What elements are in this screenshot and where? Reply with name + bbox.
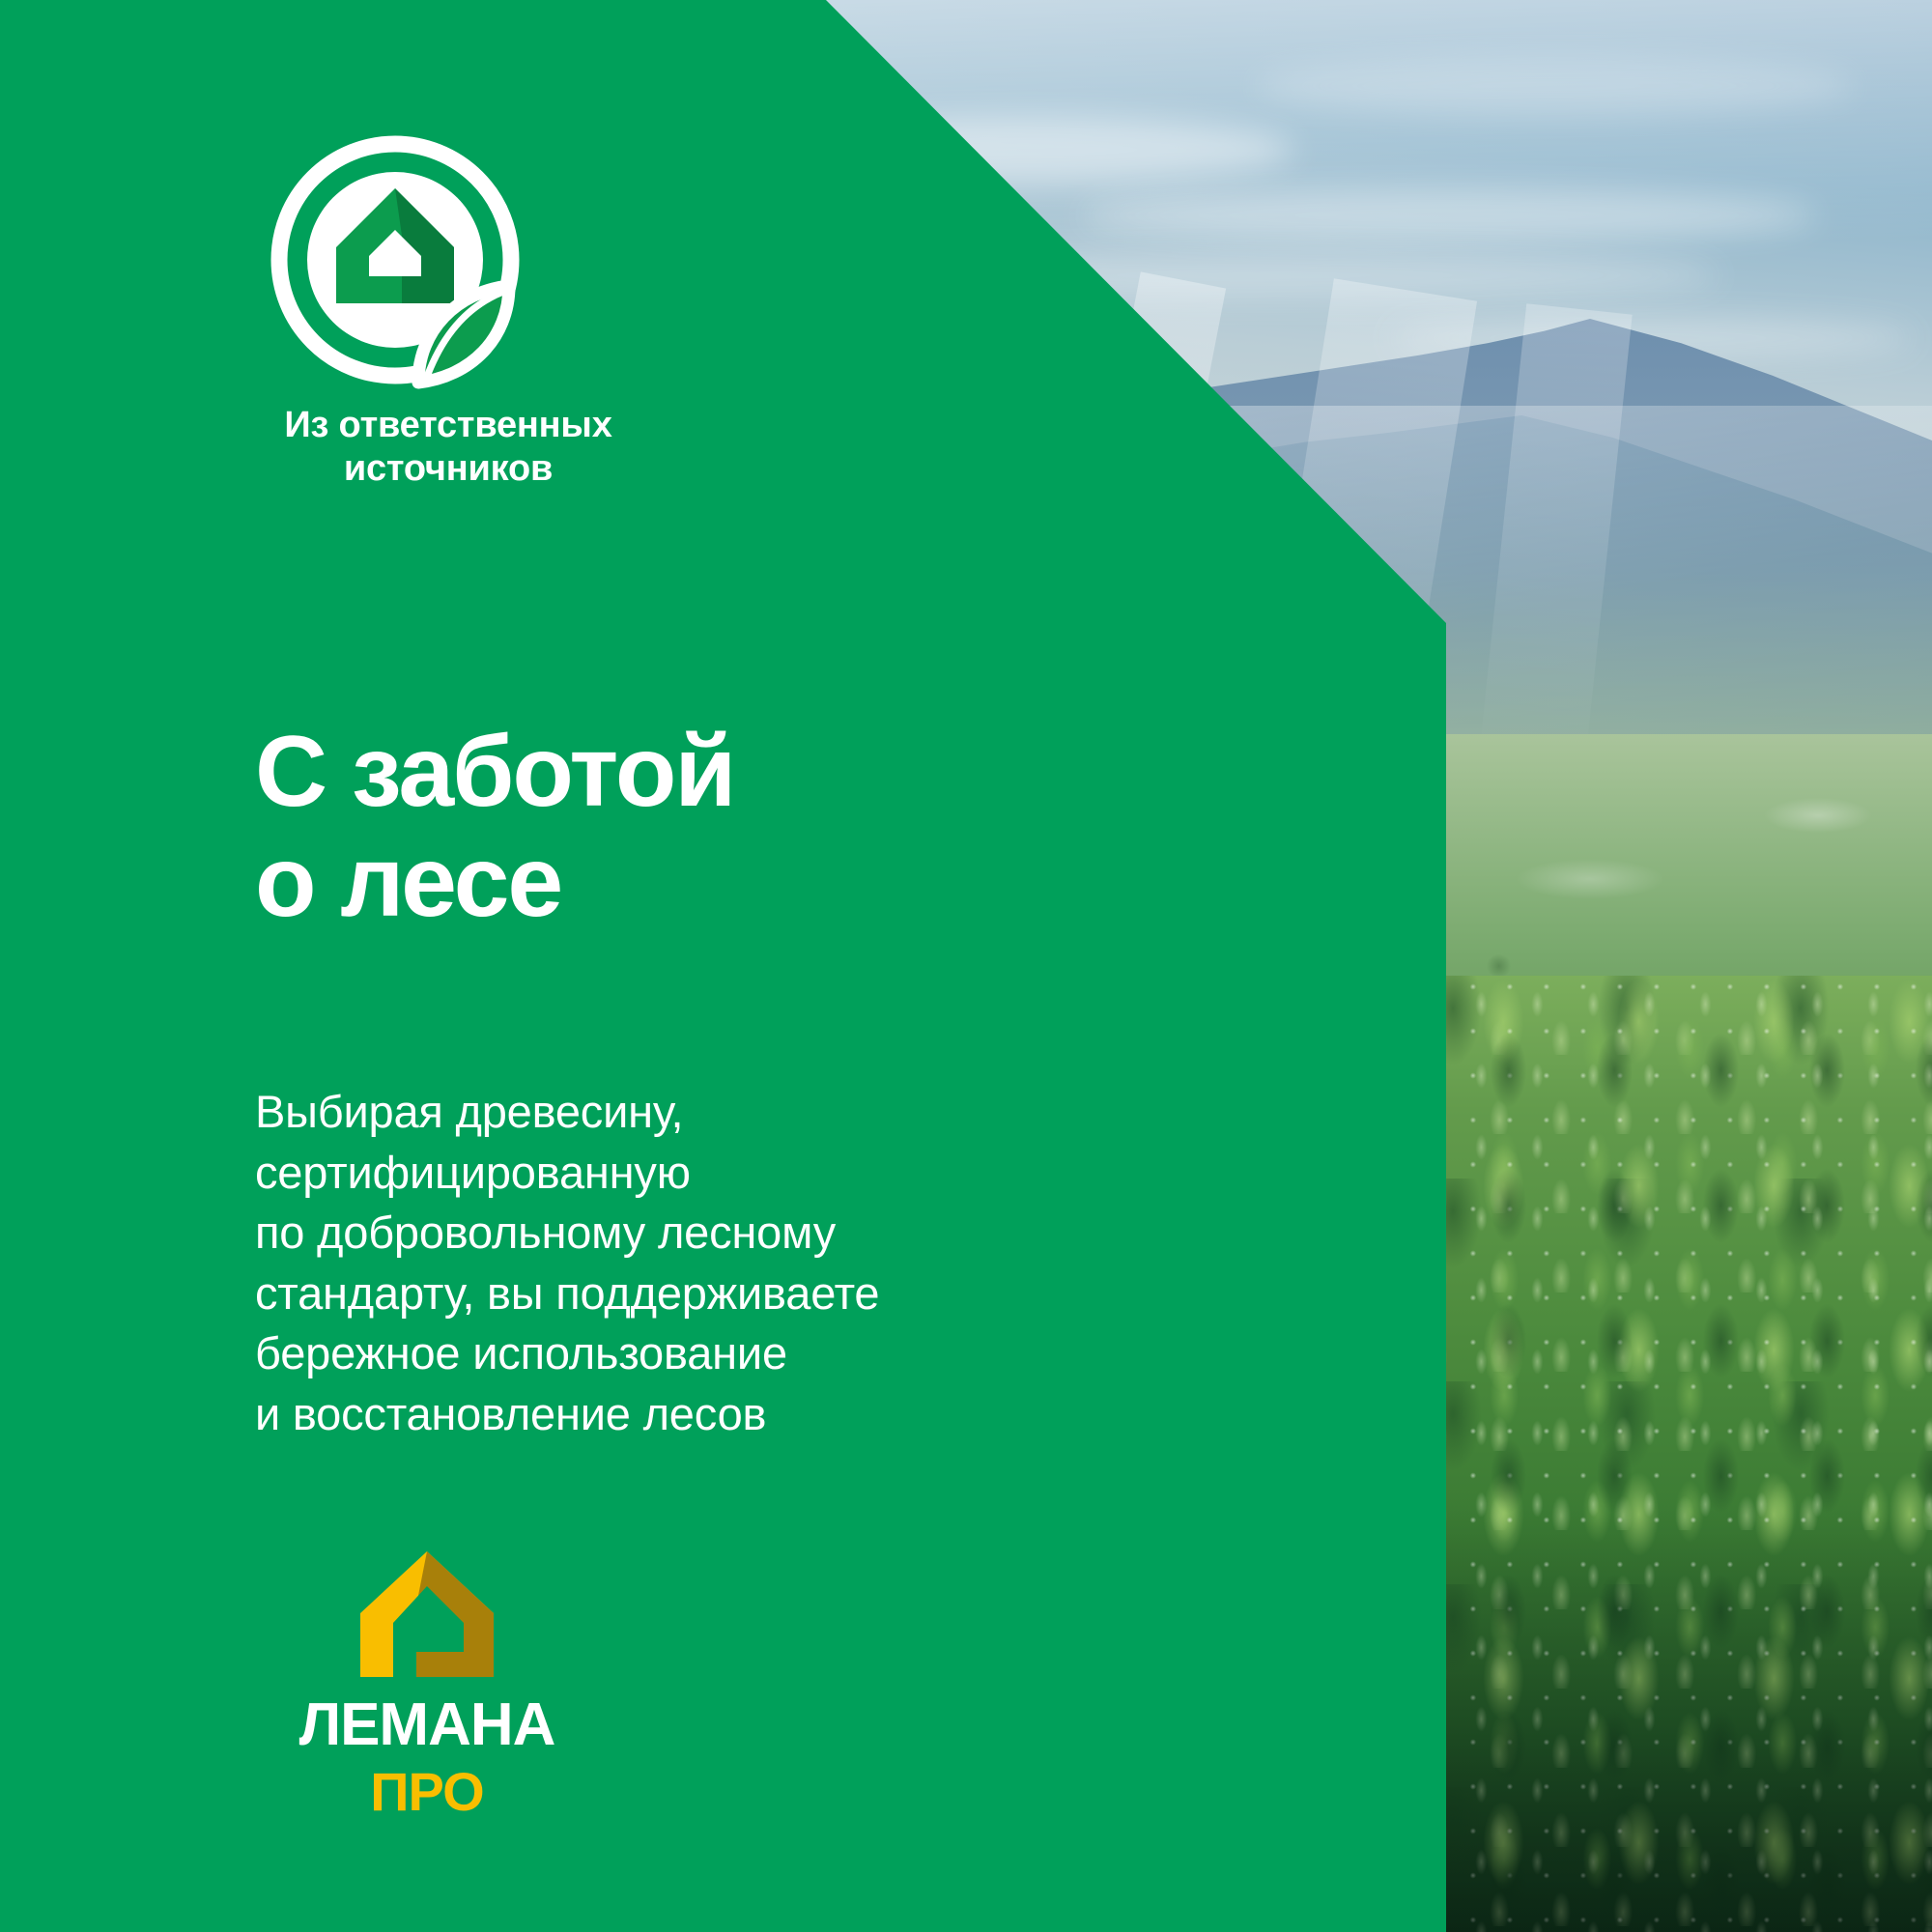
- content-column: Из ответственных источников С заботой о …: [0, 0, 1446, 1932]
- eco-badge-caption: Из ответственных источников: [255, 404, 641, 491]
- body-paragraph: Выбирая древесину, сертифицированную по …: [255, 1082, 1047, 1444]
- brand-lockup: ЛЕМАНА ПРО: [253, 1546, 601, 1818]
- eco-badge: Из ответственных источников: [255, 129, 641, 491]
- brand-sub-text: ПРО: [370, 1764, 483, 1818]
- brand-name-text: ЛЕМАНА: [299, 1694, 555, 1754]
- lemana-house-icon: [355, 1546, 499, 1681]
- brand-name-lemana: ЛЕМАНА: [268, 1694, 586, 1754]
- poster-root: Из ответственных источников С заботой о …: [0, 0, 1932, 1932]
- page-title: С заботой о лесе: [255, 717, 1124, 938]
- eco-house-leaf-circle-icon: [265, 129, 526, 390]
- brand-sub-pro: ПРО: [346, 1764, 508, 1818]
